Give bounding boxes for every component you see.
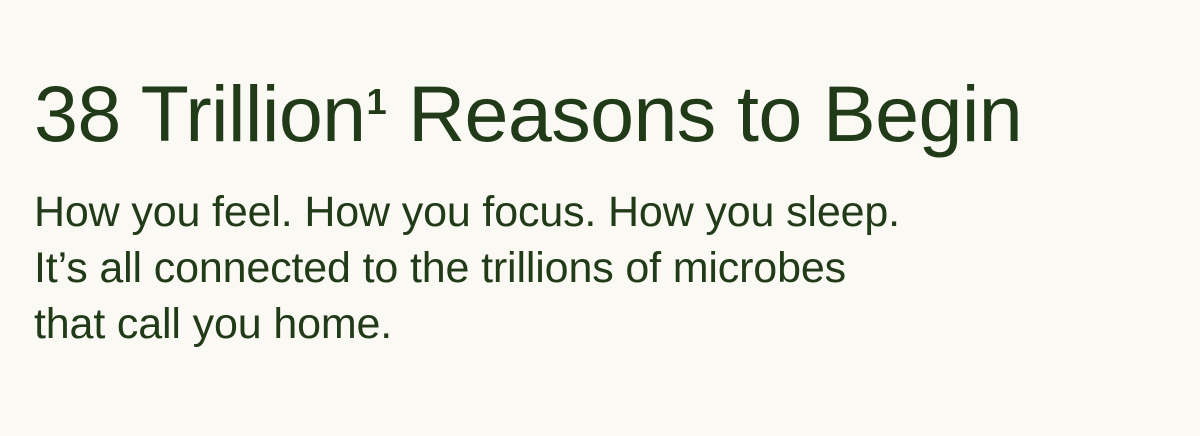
footnote-reference-superscript: 1 (366, 81, 387, 122)
hero-subtitle-line: It’s all connected to the trillions of m… (34, 240, 1160, 296)
hero-subtitle: How you feel. How you focus. How you sle… (34, 153, 1160, 352)
page-title: 38 Trillion1 Reasons to Begin (34, 0, 1160, 153)
page-title-tail: Reasons to Begin (387, 69, 1022, 158)
hero-subtitle-line: How you feel. How you focus. How you sle… (34, 184, 1160, 240)
hero-subtitle-line: that call you home. (34, 296, 1160, 352)
hero-section: 38 Trillion1 Reasons to Begin How you fe… (0, 0, 1200, 436)
page-title-main: 38 Trillion (34, 69, 366, 158)
